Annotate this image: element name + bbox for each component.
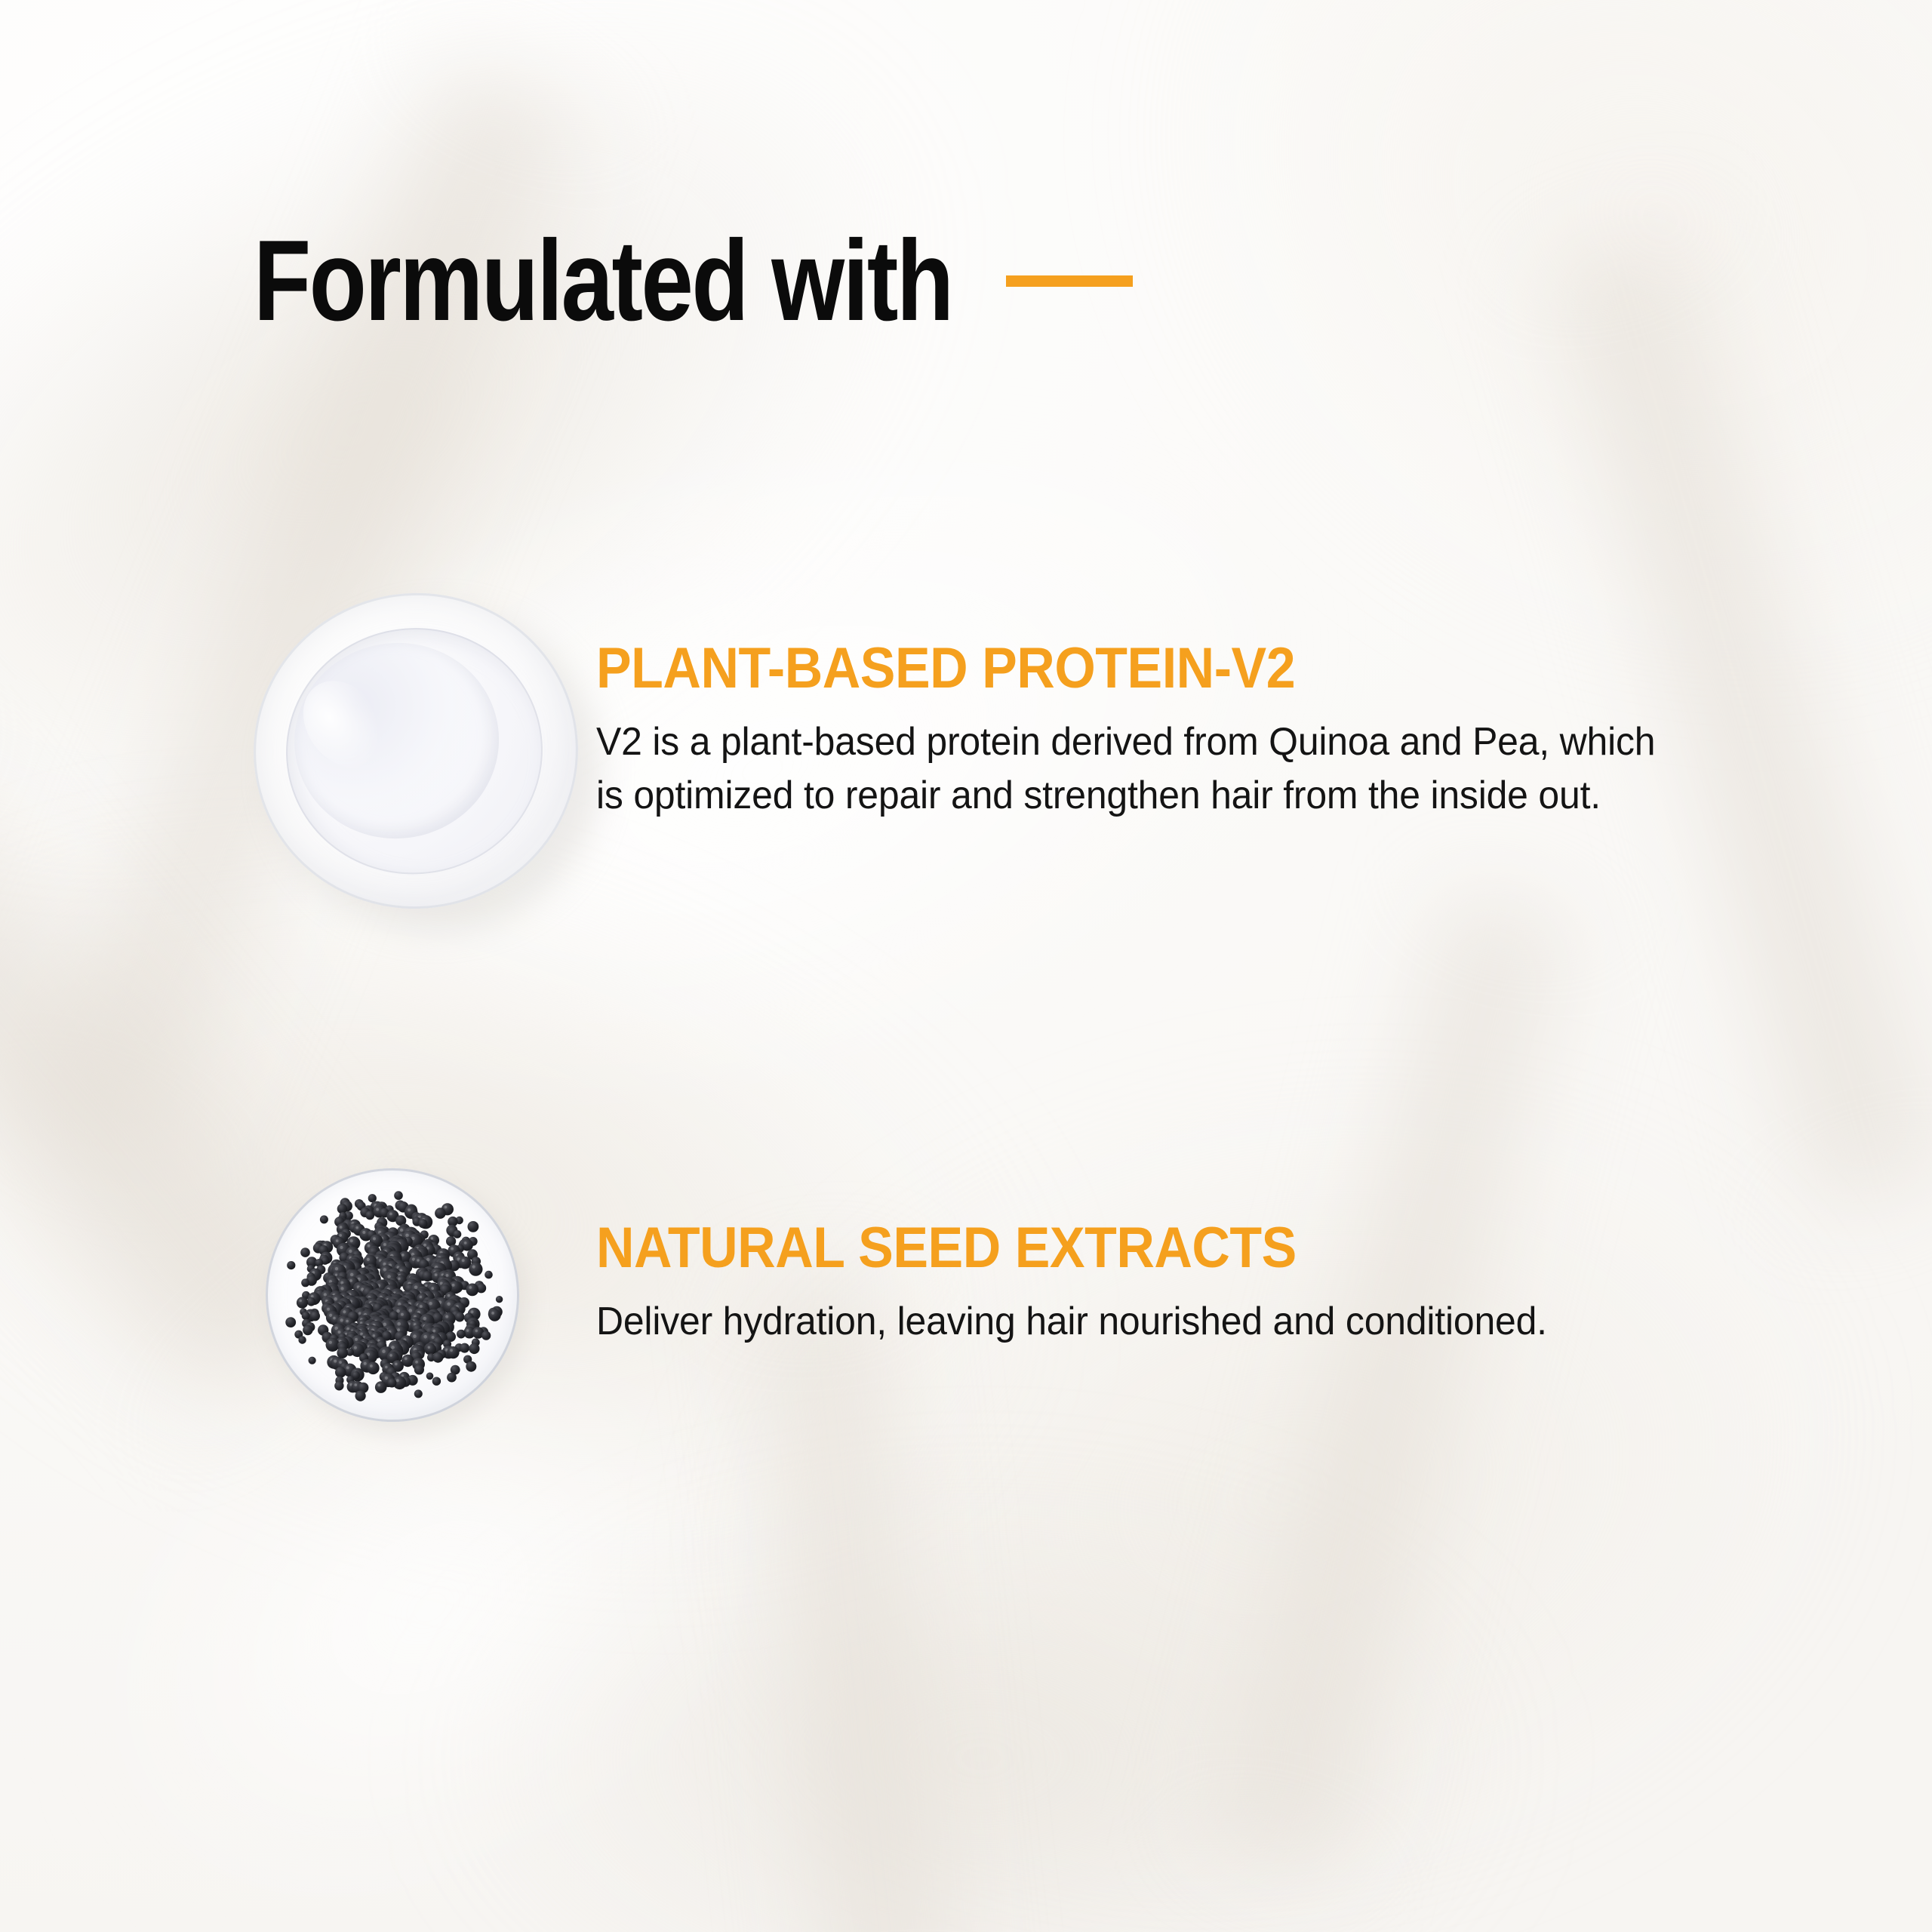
ingredient-title-2: NATURAL SEED EXTRACTS (596, 1220, 1297, 1277)
black-seeds-petri-dish-icon (266, 1168, 519, 1422)
ingredient-body-2: Deliver hydration, leaving hair nourishe… (596, 1295, 1727, 1349)
headline-text: Formulated with (254, 223, 952, 338)
orange-dash-icon (1006, 275, 1133, 287)
seed-cluster (266, 1168, 519, 1422)
clear-gel-petri-dish-icon (235, 574, 596, 927)
ingredient-title-1: PLANT-BASED PROTEIN-V2 (596, 640, 1295, 697)
ingredient-body-1: V2 is a plant-based protein derived from… (596, 715, 1683, 822)
product-ingredient-panel: Formulated with PLANT-BASED PROTEIN-V2 V… (0, 0, 1932, 1932)
page-headline: Formulated with (254, 223, 1133, 338)
